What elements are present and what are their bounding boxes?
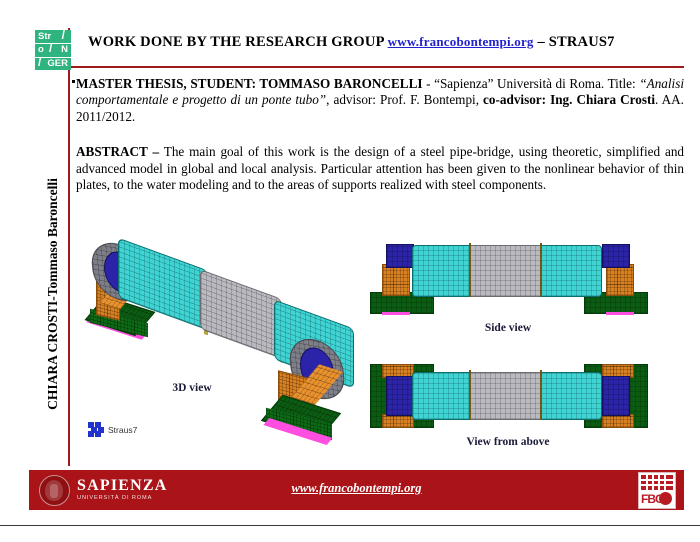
top-pipe-ring-right (540, 370, 542, 420)
side-pipe-cyan-right (540, 245, 602, 297)
pipe-segment-grey (200, 269, 282, 359)
slide-body: MASTER THESIS, STUDENT: TOMMASO BARONCEL… (76, 76, 684, 193)
bottom-divider (0, 525, 700, 526)
top-end-coil-left (386, 376, 414, 416)
top-pipe-cyan-right (540, 372, 602, 420)
side-support-right (606, 264, 634, 296)
top-pipe-cyan-left (412, 372, 472, 420)
straus7-label: Straus7 (108, 425, 137, 435)
side-end-coil-left (386, 244, 414, 268)
caption-3d-view: 3D view (152, 382, 232, 394)
top-support-right-b (602, 414, 634, 428)
fbo-logo-dot (659, 492, 672, 505)
header-title-suffix: – STRAUS7 (537, 34, 614, 50)
slide-canvas: Str/ o/N /GER WORK DONE BY THE RESEARCH … (0, 0, 700, 542)
slide-header: WORK DONE BY THE RESEARCH GROUP www.fran… (88, 34, 668, 51)
straus7-badge: Straus7 (88, 422, 137, 437)
thesis-advisor: , advisor: Prof. F. Bontempi, (326, 92, 483, 107)
figure-top-view: View from above (368, 358, 648, 454)
side-pipe-grey (469, 245, 543, 297)
side-support-left (382, 264, 410, 296)
caption-side-view: Side view (458, 322, 558, 334)
abstract-text: The main goal of this work is the design… (76, 144, 684, 192)
figure-side-view: Side view (368, 236, 648, 336)
fbo-logo: FBO (638, 472, 676, 509)
top-end-coil-right (602, 376, 630, 416)
side-pipe-ring-left (469, 243, 471, 297)
thesis-paragraph: MASTER THESIS, STUDENT: TOMMASO BARONCEL… (76, 76, 684, 125)
side-plate-right (606, 312, 634, 315)
horizontal-rule (68, 66, 684, 68)
thesis-affiliation: - “Sapienza” Università di Roma. (423, 76, 605, 91)
footer-link[interactable]: www.francobontempi.org (29, 481, 684, 496)
stronger-line3: GER (47, 57, 68, 70)
vertical-rule (68, 28, 70, 466)
abstract-paragraph: ABSTRACT – The main goal of this work is… (76, 144, 684, 193)
side-author-label: CHIARA CROSTI-Tommaso Baroncelli (45, 144, 61, 444)
side-plate-left (382, 312, 410, 315)
slide-footer: SAPIENZA UNIVERSITÀ DI ROMA www.francobo… (29, 470, 684, 510)
top-support-left-b (382, 414, 414, 428)
straus7-icon (88, 422, 103, 437)
top-pipe-ring-left (469, 370, 471, 420)
bullet-marker (72, 80, 75, 83)
thesis-title-prefix: Title: (608, 76, 640, 91)
header-title-text: WORK DONE BY THE RESEARCH GROUP (88, 34, 384, 50)
stronger-logo: Str/ o/N /GER (35, 30, 71, 70)
side-pipe-ring-right (540, 243, 542, 297)
thesis-coadvisor: co-advisor: Ing. Chiara Crosti (483, 92, 655, 107)
fbo-logo-pattern (641, 475, 673, 490)
header-link[interactable]: www.francobontempi.org (388, 34, 534, 49)
caption-top-view: View from above (446, 436, 570, 448)
abstract-label: ABSTRACT – (76, 144, 159, 159)
thesis-heading: MASTER THESIS, STUDENT: TOMMASO BARONCEL… (76, 76, 423, 91)
stronger-line2b: N (61, 43, 68, 56)
top-pipe-grey (469, 372, 543, 420)
side-pipe-cyan-left (412, 245, 472, 297)
side-end-coil-right (602, 244, 630, 268)
sapienza-subtitle: UNIVERSITÀ DI ROMA (77, 496, 168, 502)
